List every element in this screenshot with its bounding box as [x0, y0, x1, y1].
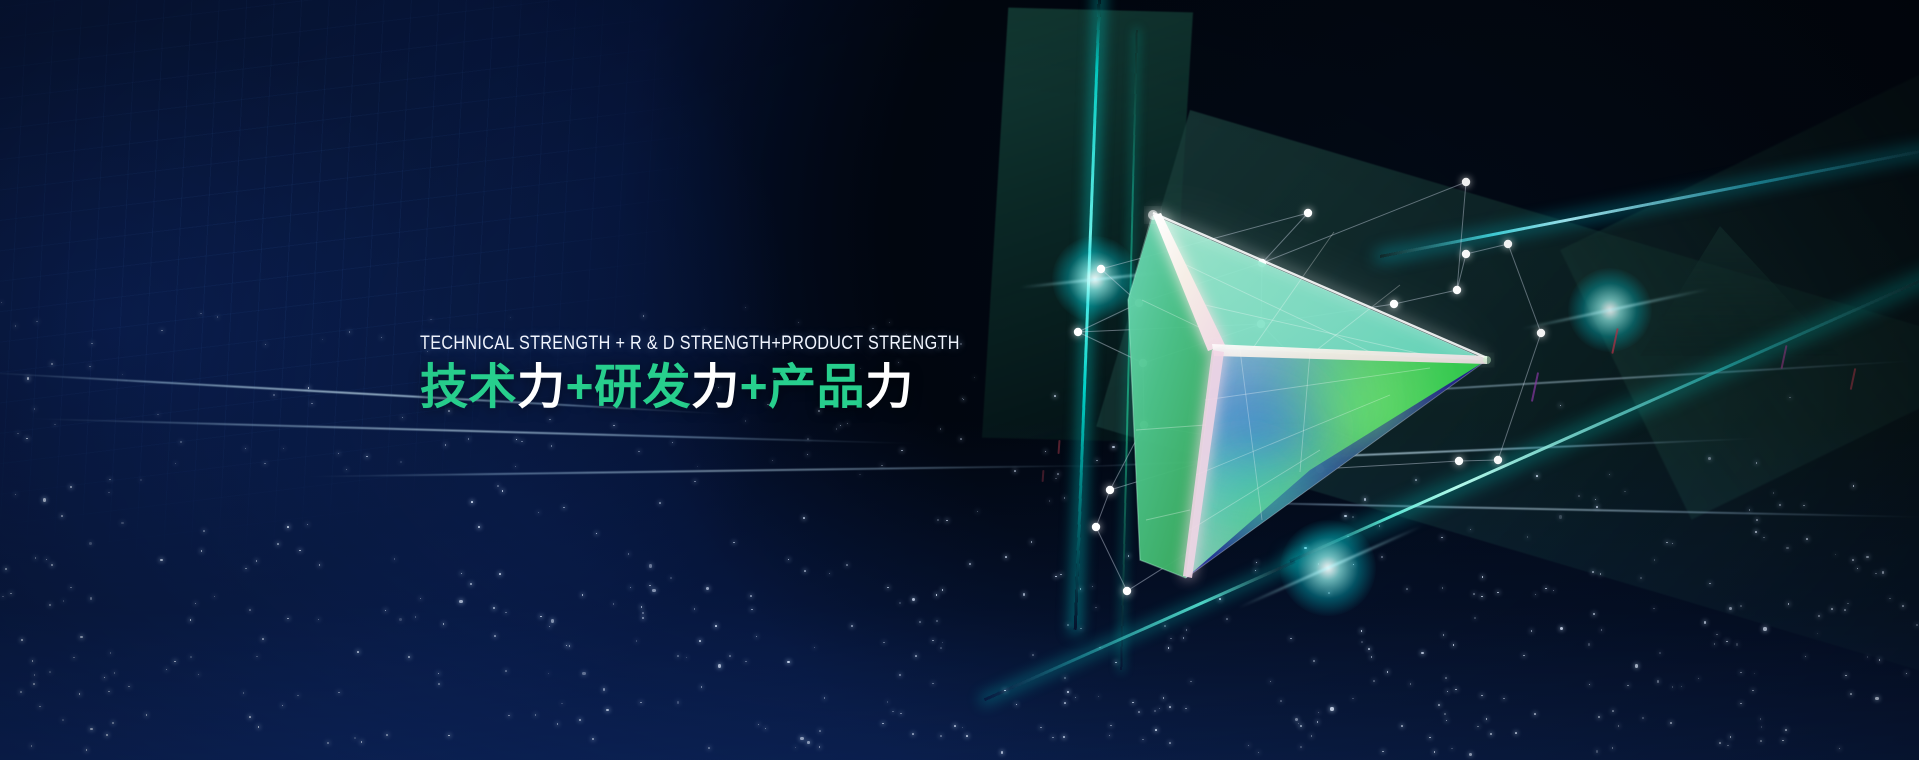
particle [494, 635, 496, 637]
particle [677, 655, 679, 657]
particle [160, 559, 162, 561]
particle [31, 745, 33, 747]
particle [1060, 574, 1062, 576]
particle [1789, 397, 1791, 399]
particle [311, 403, 312, 404]
particle [308, 387, 310, 389]
particle [386, 734, 388, 736]
particle [146, 714, 148, 716]
particle [1845, 675, 1847, 677]
particle [1318, 563, 1320, 565]
particle [819, 746, 821, 748]
particle [1867, 656, 1869, 658]
particle [1258, 752, 1260, 754]
particle [701, 686, 703, 688]
eyebrow-text: TECHNICAL STRENGTH + R & D STRENGTH+PROD… [420, 333, 935, 354]
particle [1361, 630, 1363, 632]
particle [1063, 736, 1065, 738]
particle [566, 645, 568, 647]
particle [1300, 746, 1302, 748]
particle [750, 595, 752, 597]
particle [1736, 643, 1738, 645]
particle [613, 425, 615, 427]
particle [1503, 698, 1505, 700]
particle [1627, 685, 1629, 687]
particle [1311, 735, 1313, 737]
particle [677, 701, 679, 703]
particle [471, 501, 473, 503]
particle [800, 737, 803, 740]
particle [1186, 629, 1188, 631]
particle [277, 543, 279, 545]
particle [1451, 748, 1453, 750]
particle [256, 560, 258, 562]
particle [1054, 395, 1056, 397]
particle [1364, 498, 1366, 500]
particle [70, 486, 72, 488]
particle [1005, 556, 1007, 558]
particle [1067, 624, 1069, 626]
particle [10, 593, 12, 595]
particle [1382, 751, 1384, 753]
particle [1064, 702, 1066, 704]
particle [1185, 708, 1187, 710]
particle [1132, 702, 1134, 704]
particle [694, 608, 696, 610]
particle [892, 711, 894, 713]
particle [807, 741, 809, 743]
particle [1246, 498, 1248, 500]
particle [613, 603, 615, 605]
particle [1578, 495, 1580, 497]
particle [1709, 583, 1711, 585]
particle [1067, 691, 1069, 693]
particle [569, 645, 571, 647]
particle [1444, 713, 1446, 715]
particle [1916, 624, 1918, 626]
particle [1716, 634, 1718, 636]
particle [649, 585, 651, 587]
particle [1806, 538, 1808, 540]
particle [1032, 654, 1034, 656]
particle [1740, 605, 1742, 607]
particle [140, 479, 141, 480]
particle [448, 735, 450, 737]
particle [557, 723, 559, 725]
particle [1300, 725, 1302, 727]
particle [1080, 588, 1082, 590]
particle [729, 655, 731, 657]
particle [899, 602, 901, 604]
particle [846, 564, 848, 566]
particle [1714, 643, 1716, 645]
particle [245, 448, 247, 450]
particle [549, 419, 550, 420]
particle [642, 612, 644, 614]
particle [940, 735, 942, 737]
particle [43, 498, 46, 501]
particle [1730, 736, 1732, 738]
particle [319, 564, 321, 566]
particle [804, 570, 806, 572]
particle [1761, 726, 1763, 728]
particle [1486, 718, 1488, 720]
particle [1482, 576, 1484, 578]
particle [1612, 747, 1614, 749]
particle [203, 530, 205, 532]
particle [1373, 680, 1375, 682]
particle [745, 420, 746, 421]
particle [34, 674, 36, 676]
particle [642, 617, 644, 619]
particle [1469, 753, 1472, 756]
particle [859, 474, 860, 475]
particle [89, 542, 92, 545]
particle [1115, 662, 1117, 664]
particle [61, 515, 63, 517]
particle [1429, 737, 1431, 739]
particle [174, 661, 176, 663]
particle [1902, 605, 1904, 607]
particle [1064, 497, 1066, 499]
particle [1142, 739, 1144, 741]
particle [499, 573, 501, 575]
particle [686, 657, 688, 659]
particle [540, 616, 542, 618]
particle [1219, 598, 1221, 600]
particle [1875, 573, 1877, 575]
particle [249, 716, 251, 718]
particle [90, 728, 92, 730]
particle [80, 636, 82, 638]
headline-seg-4: 力 [691, 359, 740, 415]
particle [1844, 609, 1846, 611]
particle [715, 625, 717, 627]
particle [659, 502, 661, 504]
particle [49, 671, 51, 673]
particle [1138, 711, 1140, 713]
particle [91, 343, 92, 344]
particle [1442, 587, 1444, 589]
particle [1401, 725, 1403, 727]
particle [1110, 725, 1112, 727]
particle [34, 408, 35, 409]
particle [73, 657, 75, 659]
particle [357, 651, 359, 653]
particle [1763, 537, 1765, 539]
particle [1381, 556, 1383, 558]
particle [1170, 638, 1172, 640]
particle [1155, 729, 1157, 731]
particle [1344, 515, 1346, 517]
particle [1052, 737, 1054, 739]
particle [915, 655, 917, 657]
particle [1445, 677, 1447, 679]
particle [1653, 608, 1655, 610]
particle [1, 302, 2, 303]
particle [1438, 704, 1440, 706]
particle [966, 735, 968, 737]
particle [1455, 689, 1457, 691]
particle [1785, 729, 1787, 731]
particle [579, 719, 581, 721]
particle [1304, 547, 1306, 549]
particle [1379, 525, 1381, 527]
particle [521, 441, 522, 442]
hero-banner: TECHNICAL STRENGTH + R & D STRENGTH+PROD… [0, 0, 1919, 760]
particle [1534, 713, 1536, 715]
particle [1875, 697, 1878, 700]
particle [940, 647, 942, 649]
particle [1740, 672, 1742, 674]
particle [86, 749, 88, 751]
particle [1164, 625, 1166, 627]
headline-seg-7: 力 [865, 359, 914, 415]
particle [1112, 446, 1114, 448]
headline-seg-3: 研发 [594, 359, 691, 415]
particle [1852, 559, 1854, 561]
particle [803, 517, 805, 519]
particle [468, 438, 470, 440]
headline-text-block: TECHNICAL STRENGTH + R & D STRENGTH+PROD… [420, 333, 1040, 414]
particle [1803, 505, 1805, 507]
particle [1635, 664, 1638, 667]
particle [1040, 727, 1042, 729]
particle [361, 741, 363, 743]
particle [190, 656, 192, 658]
particle [788, 559, 790, 561]
particle [1515, 732, 1517, 734]
particle [51, 564, 53, 566]
particle [1756, 462, 1758, 464]
particle [1600, 573, 1602, 575]
particle [1352, 516, 1354, 518]
particle [1434, 751, 1436, 753]
page-title: 技术力+研发力+产品力 [420, 362, 1040, 413]
particle [180, 441, 181, 442]
particle [1330, 707, 1333, 710]
particle [1473, 593, 1475, 595]
particle [708, 747, 710, 749]
particle [273, 394, 274, 395]
particle [217, 316, 218, 317]
particle [121, 522, 123, 524]
particle [161, 330, 162, 331]
particle [128, 686, 130, 688]
particle [1031, 541, 1033, 543]
particle [954, 725, 956, 727]
particle [824, 697, 826, 699]
particle [881, 465, 882, 466]
particle [1782, 740, 1784, 742]
particle [1163, 697, 1165, 699]
particle [1014, 470, 1016, 472]
particle [249, 609, 251, 611]
particle [430, 319, 431, 320]
particle [636, 640, 638, 642]
particle [62, 719, 64, 721]
particle [787, 661, 789, 663]
particle [819, 730, 821, 732]
particle [1441, 537, 1443, 539]
particle [1280, 700, 1282, 702]
particle [1387, 671, 1389, 673]
particle [1704, 621, 1706, 623]
particle [887, 587, 889, 589]
particle [200, 313, 201, 314]
particle [1889, 598, 1891, 600]
particle [672, 442, 673, 443]
particle [1169, 706, 1171, 708]
particle [1708, 457, 1711, 460]
particle [1531, 630, 1533, 632]
particle [1055, 576, 1057, 578]
particle [1755, 531, 1757, 533]
particle [338, 692, 340, 694]
particle [400, 461, 401, 462]
particle [505, 670, 507, 672]
particle [1835, 554, 1837, 556]
particle [297, 695, 299, 697]
particle [349, 331, 350, 332]
particle [27, 377, 29, 379]
particle [1190, 681, 1192, 683]
particle [1559, 515, 1562, 518]
particle [5, 568, 7, 570]
particle [262, 638, 264, 640]
particle [1368, 648, 1370, 650]
particle [942, 589, 944, 591]
particle [1347, 536, 1349, 538]
headline-seg-0: 技术 [420, 359, 517, 415]
particle [1290, 638, 1292, 640]
particle [1536, 475, 1538, 477]
particle [1763, 627, 1766, 630]
particle [1226, 618, 1228, 620]
particle [438, 683, 440, 685]
particle [51, 363, 52, 364]
particle [1004, 690, 1006, 692]
particle [1474, 617, 1476, 619]
particle [287, 526, 289, 528]
particle [36, 321, 37, 322]
particle [1361, 641, 1363, 643]
particle [582, 594, 584, 596]
particle [912, 733, 914, 735]
particle [1592, 571, 1594, 573]
particle [1421, 652, 1423, 654]
particle [670, 577, 672, 579]
particle [628, 553, 630, 555]
particle [1242, 403, 1244, 405]
particle [1023, 593, 1025, 595]
particle [89, 366, 90, 367]
particle [1481, 596, 1483, 598]
particle [638, 451, 640, 453]
particle [1612, 710, 1614, 712]
particle [190, 619, 192, 621]
particle [394, 558, 396, 560]
particle [1596, 506, 1598, 508]
particle [1740, 703, 1742, 705]
particle [1596, 750, 1598, 752]
particle [366, 456, 368, 458]
particle [699, 640, 701, 642]
particle [299, 550, 301, 552]
particle [1523, 655, 1525, 657]
particle [652, 589, 655, 592]
headline-seg-2: + [566, 361, 595, 414]
wave-glow [0, 420, 1919, 760]
particle [26, 438, 28, 440]
particle [108, 691, 110, 693]
particle [459, 600, 462, 603]
particle [718, 664, 721, 667]
particle [1352, 698, 1354, 700]
headline-seg-1: 力 [517, 359, 566, 415]
particle [535, 714, 537, 716]
particle [346, 469, 347, 470]
particle [1850, 693, 1852, 695]
particle [649, 564, 652, 567]
particle [1169, 742, 1171, 744]
particle [1328, 592, 1330, 594]
particle [445, 444, 446, 445]
particle [1760, 718, 1762, 720]
particle [1719, 742, 1721, 744]
particle [1726, 641, 1728, 643]
particle [112, 722, 114, 724]
particle [940, 428, 942, 430]
particle [497, 485, 499, 487]
particle [1096, 460, 1098, 462]
particle [1727, 745, 1729, 747]
particle [1168, 647, 1170, 649]
particle [1057, 473, 1059, 475]
particle [109, 479, 110, 480]
particle [756, 636, 758, 638]
particle [1866, 556, 1868, 558]
headline-seg-6: 产品 [768, 359, 865, 415]
particle [258, 726, 260, 728]
particle [33, 683, 35, 685]
particle [582, 672, 585, 675]
particle [960, 438, 962, 440]
particle [1847, 603, 1849, 605]
particle [1415, 479, 1417, 481]
particle [354, 737, 356, 739]
particle [1879, 659, 1881, 661]
particle [1406, 588, 1408, 590]
particle [49, 604, 51, 606]
particle [1659, 652, 1661, 654]
headline-seg-5: + [740, 361, 769, 414]
particle [745, 661, 747, 663]
particle [1760, 740, 1762, 742]
particle [478, 526, 480, 528]
